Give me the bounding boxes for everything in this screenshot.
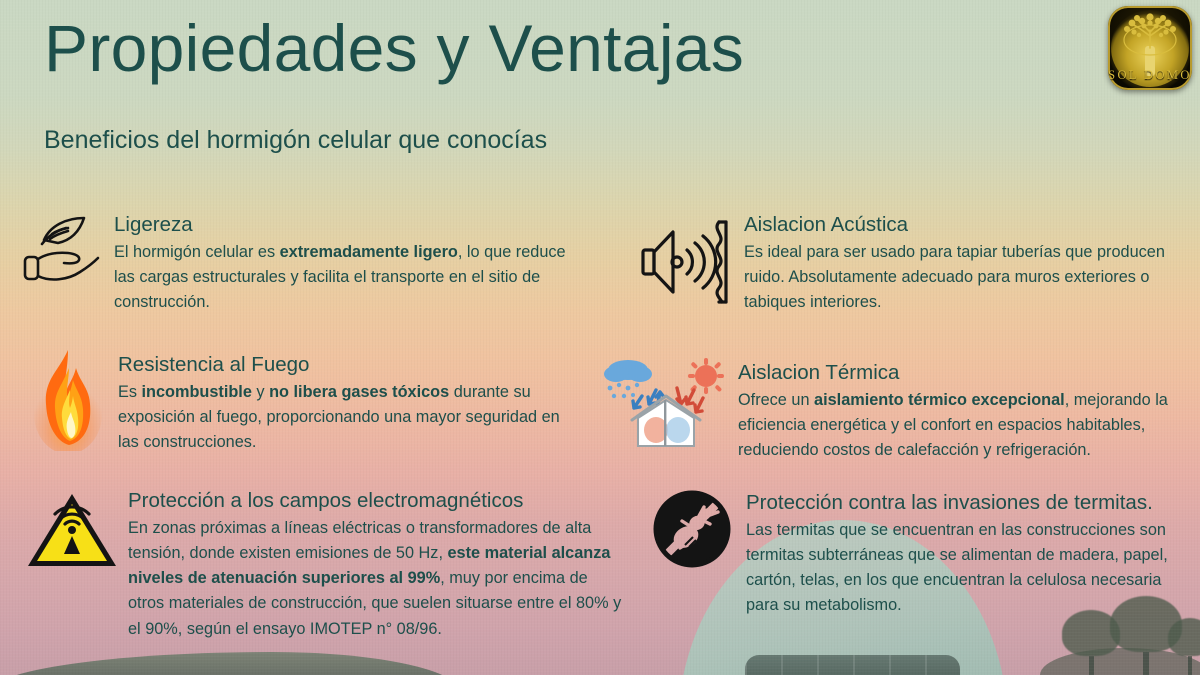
dome-base [745,655,960,675]
feature-text: Aislacion Acústica Es ideal para ser usa… [744,212,1196,315]
feature-heading: Aislacion Acústica [744,212,1196,238]
flame-icon [32,346,104,451]
feature-text: Protección contra las invasiones de term… [746,490,1196,619]
feature-heading: Aislacion Térmica [738,360,1196,386]
page-title: Propiedades y Ventajas [44,10,744,86]
feature-heading: Protección contra las invasiones de term… [746,490,1196,516]
feature-campos-electromagneticos: Protección a los campos electromagnético… [22,488,622,642]
feature-ligereza: Ligereza El hormigón celular es extremad… [22,212,576,315]
feature-proteccion-termitas: Protección contra las invasiones de term… [646,490,1196,619]
feature-text: Ligereza El hormigón celular es extremad… [114,212,576,315]
no-termites-icon [653,490,731,568]
feature-body: Las termitas que se encuentran en las co… [746,518,1196,619]
feature-icon-slot [22,352,114,455]
dome-base-slats [745,655,960,675]
feature-icon-slot [22,212,100,315]
feature-body: Ofrece un aislamiento térmico excepciona… [738,388,1196,464]
feature-aislacion-termica: Aislacion Térmica Ofrece un aislamiento … [598,360,1196,463]
logo-wordmark: SOL DOMO [1108,68,1192,83]
feature-body: El hormigón celular es extremadamente li… [114,240,576,316]
feature-body: En zonas próximas a líneas eléctricas o … [128,516,622,642]
feature-text: Resistencia al Fuego Es incombustible y … [118,352,570,455]
feature-icon-slot [636,212,736,315]
page-subtitle: Beneficios del hormigón celular que cono… [44,126,547,155]
feature-body: Es ideal para ser usado para tapiar tube… [744,240,1196,316]
horizon-ridge [0,652,460,675]
feature-text: Aislacion Térmica Ofrece un aislamiento … [738,360,1196,463]
house-thermal-insulation-icon [602,356,730,448]
feature-body: Es incombustible y no libera gases tóxic… [118,380,570,456]
feature-resistencia-al-fuego: Resistencia al Fuego Es incombustible y … [22,352,570,455]
feature-icon-slot [598,360,734,463]
tree-icon [1062,610,1120,675]
feature-icon-slot [646,490,738,619]
feature-icon-slot [22,488,122,642]
feature-aislacion-acustica: Aislacion Acústica Es ideal para ser usa… [636,212,1196,315]
speaker-soundwave-wall-icon [640,212,732,310]
feature-text: Protección a los campos electromagnético… [128,488,622,642]
feature-heading: Protección a los campos electromagnético… [128,488,622,514]
feather-in-hand-icon [22,212,100,284]
radiation-warning-triangle-icon [24,488,120,572]
feature-heading: Resistencia al Fuego [118,352,570,378]
slide-canvas: Propiedades y Ventajas Beneficios del ho… [0,0,1200,675]
tree-icon [1168,618,1200,675]
shrub-cluster [1040,648,1200,675]
sol-domo-logo[interactable]: SOL DOMO [1108,6,1192,90]
feature-heading: Ligereza [114,212,576,238]
